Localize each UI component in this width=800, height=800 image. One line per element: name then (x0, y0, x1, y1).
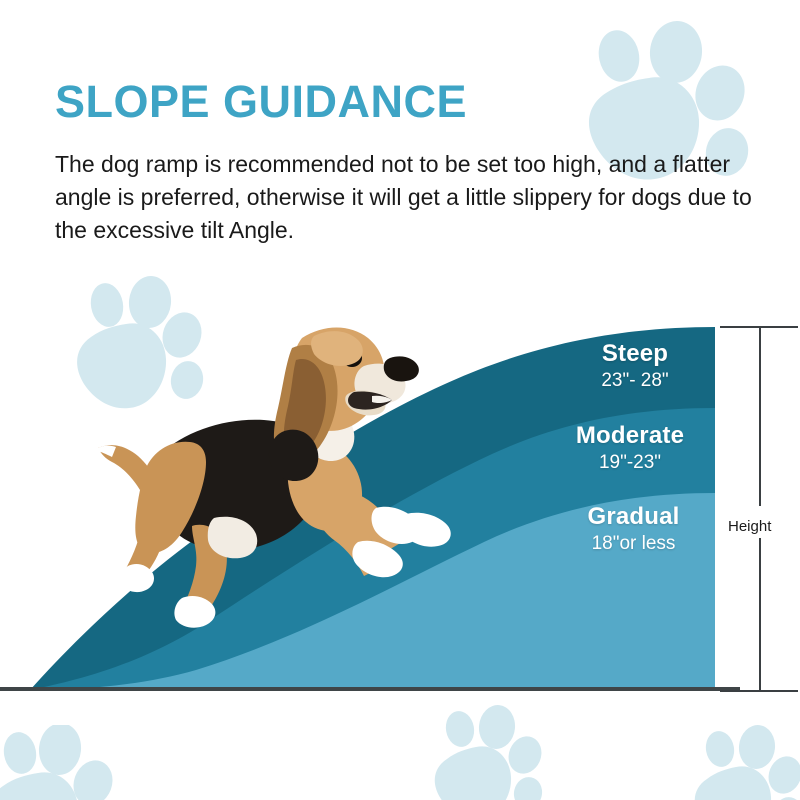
paw-print-icon-bottom-right (690, 725, 800, 800)
band-range-steep: 23"- 28" (560, 371, 710, 390)
band-label-gradual: Gradual 18"or less (556, 505, 711, 553)
band-name-gradual: Gradual (556, 505, 711, 529)
band-label-steep: Steep 23"- 28" (560, 342, 710, 390)
ramp-baseline (0, 687, 740, 691)
paw-print-icon-bottom-center (430, 705, 560, 800)
height-label: Height (728, 518, 771, 535)
description-text: The dog ramp is recommended not to be se… (55, 148, 755, 247)
band-name-moderate: Moderate (546, 424, 714, 448)
band-name-steep: Steep (560, 342, 710, 366)
height-dimension-line (720, 320, 800, 700)
dog-illustration (96, 300, 476, 630)
band-range-moderate: 19"-23" (546, 453, 714, 472)
page-title: SLOPE GUIDANCE (55, 76, 467, 128)
band-range-gradual: 18"or less (556, 534, 711, 553)
band-label-moderate: Moderate 19"-23" (546, 424, 714, 472)
infographic-canvas: SLOPE GUIDANCE The dog ramp is recommend… (0, 0, 800, 800)
paw-print-icon-bottom-left (0, 725, 138, 800)
